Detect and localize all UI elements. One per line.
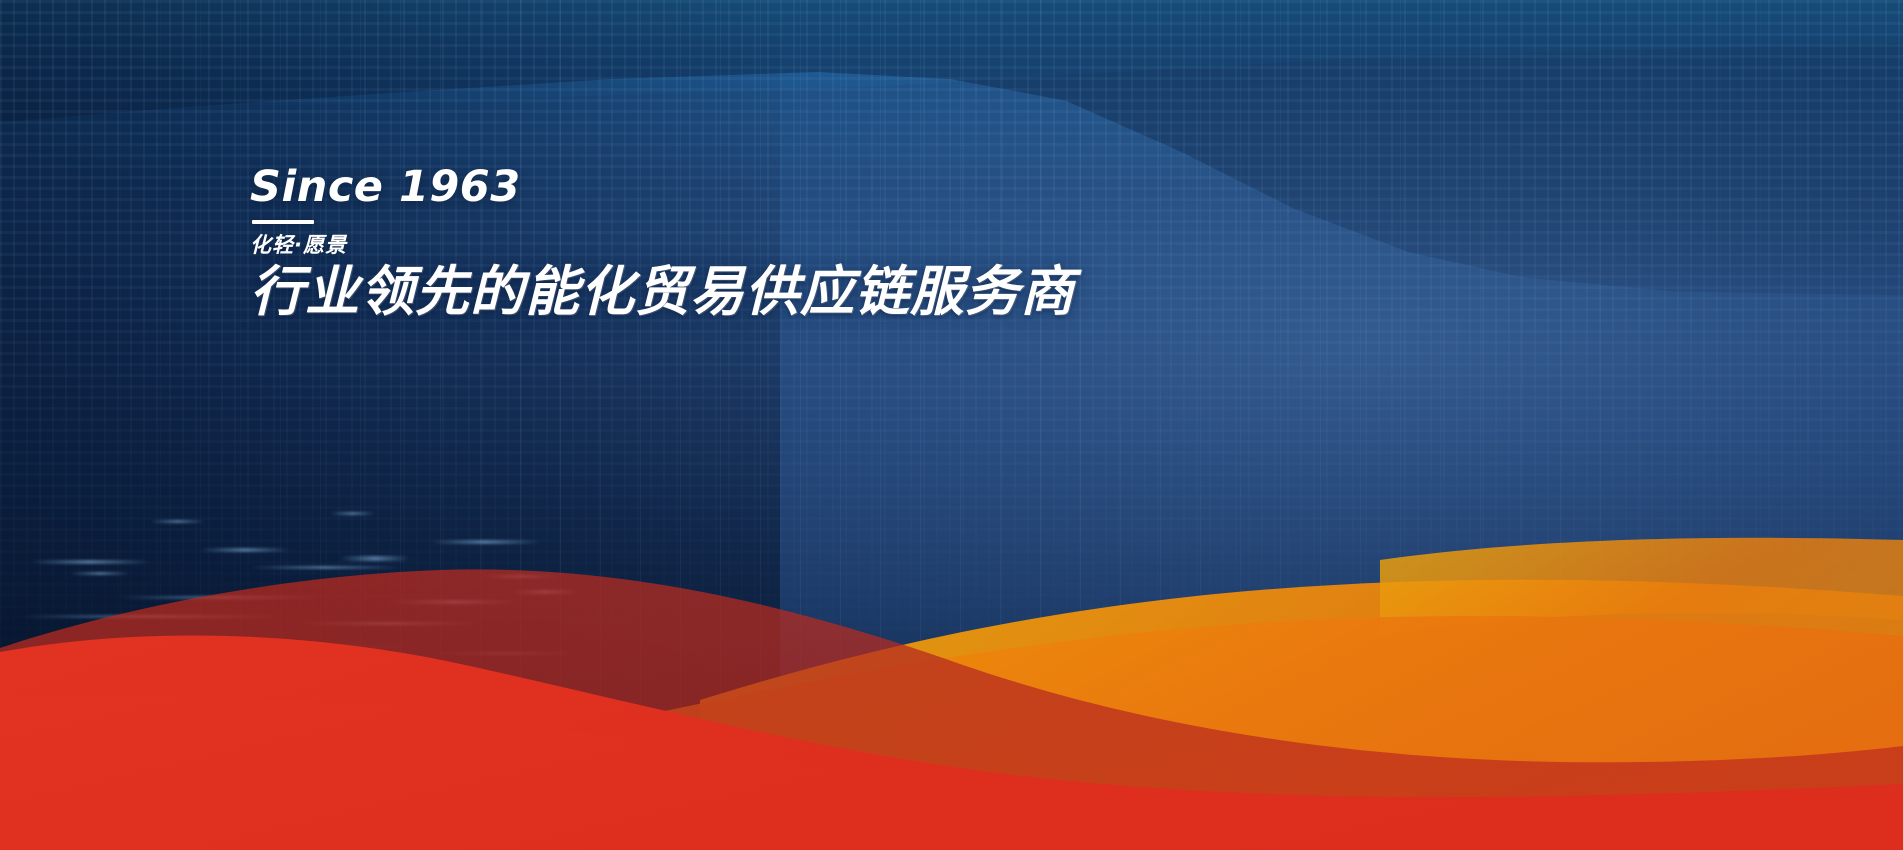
vision-label: 化轻·愿景 xyxy=(250,233,1075,258)
hud-number: 4456566 xyxy=(823,572,867,585)
hud-number: A5576867984 xyxy=(910,530,980,543)
hud-number: 677686759898 xyxy=(818,586,894,599)
hud-number: 45653 xyxy=(546,561,578,574)
hud-number: 78653 xyxy=(590,506,622,519)
hud-number: 8l Nlcklslt xyxy=(436,420,506,433)
ghost-keyword: INDUSTRIAL xyxy=(344,398,455,415)
hud-number: 5355 xyxy=(592,489,617,502)
hud-number: 24154 xyxy=(640,504,672,517)
background-gradient xyxy=(0,0,1903,850)
hud-number: 5ed5 6l45 l45 xyxy=(436,406,518,419)
hud-number: 587 xyxy=(552,578,571,591)
hud-number: 2231 xyxy=(642,470,667,483)
clock-icon xyxy=(1418,336,1455,362)
city-light-blur xyxy=(0,0,1903,850)
hud-number: 542342 xyxy=(588,472,626,485)
hud-number: 535454 xyxy=(588,455,626,468)
hud-number: 3535 xyxy=(592,438,617,451)
divider-rule xyxy=(252,220,314,224)
hud-number: 322 xyxy=(698,504,717,517)
light-shaft-right xyxy=(1391,0,1869,608)
hud-number: 5643543 xyxy=(438,448,482,461)
chevron-down-icon xyxy=(1121,525,1147,535)
gear-icon xyxy=(1417,291,1457,319)
hud-number: 8998 xyxy=(538,501,563,514)
network-graph-overlay xyxy=(0,0,1903,850)
world-map-graphic xyxy=(0,0,1903,850)
hud-number: 241231 xyxy=(638,521,676,534)
hud-number: 383534 xyxy=(638,487,676,500)
bottom-color-waves xyxy=(0,0,1903,850)
hud-number: 8l45 xyxy=(440,434,465,447)
hud-number: 354 xyxy=(696,521,715,534)
right-utility-icons xyxy=(0,0,1903,850)
calculator-icon xyxy=(364,639,480,725)
hud-number: 7865 xyxy=(642,436,667,449)
hud-number: 4058566 xyxy=(442,372,486,385)
pie-chart-icon xyxy=(1118,561,1149,583)
ghost-keyword: COLLABORATION xyxy=(338,325,495,342)
since-label: Since 1963 xyxy=(250,163,1075,211)
hero-copy-block: Since 1963 化轻·愿景 行业领先的能化贸易供应链服务商 xyxy=(250,163,1075,323)
hero-banner: CORPORATESUCCESSENTERPRISECOLLABORATIONP… xyxy=(0,0,1903,850)
ghost-keyword: PARTNER xyxy=(342,350,427,367)
warm-glow-core xyxy=(1170,290,1420,500)
hud-number: 36417 xyxy=(640,453,672,466)
ghost-keyword: DEVELOPMENT xyxy=(340,374,476,391)
headline-title: 行业领先的能化贸易供应链服务商 xyxy=(250,261,1075,323)
hud-number: 435565A25432353S xyxy=(930,364,1031,377)
hud-number: 8998 xyxy=(538,484,563,497)
vertical-line-texture xyxy=(0,0,1903,850)
sky-band xyxy=(0,0,1903,120)
hud-number: 4113 xyxy=(444,389,469,402)
left-vignette xyxy=(0,0,780,850)
smartphone-hand-graphic xyxy=(0,0,1903,850)
warm-glow xyxy=(1055,205,1535,585)
plus-icon xyxy=(1121,481,1147,499)
hud-number: 53434 xyxy=(828,635,860,648)
data-dot-matrix-texture xyxy=(0,0,1903,850)
photo-tint xyxy=(0,0,1903,850)
hud-panels-graphic xyxy=(0,0,1903,850)
hud-number: 2424 xyxy=(592,523,617,536)
hud-number: 9008 xyxy=(538,518,563,531)
